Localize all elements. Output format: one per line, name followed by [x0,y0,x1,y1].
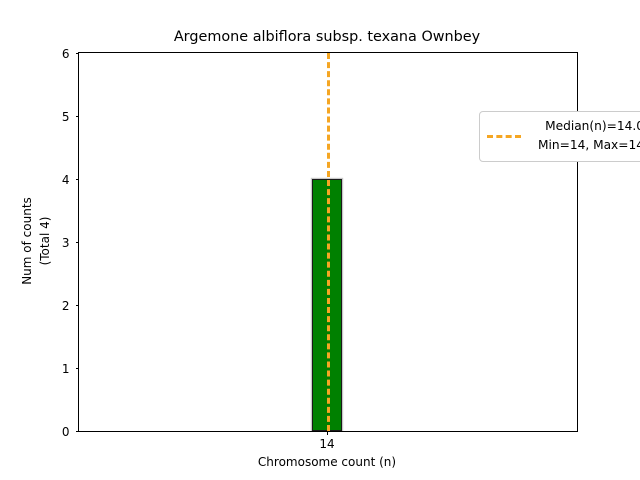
plot-area: 0 1 2 3 4 5 6 14 Median(n)=14.0 [78,52,578,432]
legend[interactable]: Median(n)=14.0 Min=14, Max=14 [479,111,640,162]
x-axis-label: Chromosome count (n) [78,455,576,469]
ytick-5: 5 [76,116,80,117]
median-line [327,53,330,431]
ytick-6: 6 [76,53,80,54]
page-title: Argemone albiflora subsp. texana Ownbey [78,29,576,46]
ytick-label-0: 0 [62,425,70,439]
ytick-0: 0 [76,431,80,432]
ytick-label-4: 4 [62,173,70,187]
legend-entry-text: Median(n)=14.0 Min=14, Max=14 [530,117,640,155]
legend-label-median: Median(n)=14.0 [530,117,640,136]
figure-canvas: Argemone albiflora subsp. texana Ownbey … [0,0,640,480]
y-axis-label-line-2: (Total 4) [38,217,52,266]
legend-entry-median: Median(n)=14.0 Min=14, Max=14 [487,117,640,155]
xtick-14 [327,431,328,435]
y-axis-label-line-1: Num of counts [20,197,34,285]
ytick-label-5: 5 [62,110,70,124]
ytick-label-1: 1 [62,362,70,376]
ytick-1: 1 [76,368,80,369]
xtick-label-14: 14 [319,437,334,451]
legend-label-minmax: Min=14, Max=14 [530,136,640,155]
ytick-label-2: 2 [62,299,70,313]
ytick-3: 3 [76,242,80,243]
ytick-label-3: 3 [62,236,70,250]
ytick-2: 2 [76,305,80,306]
ytick-4: 4 [76,179,80,180]
ytick-label-6: 6 [62,47,70,61]
dashed-line-icon [487,135,521,138]
plot-inner [79,53,577,431]
